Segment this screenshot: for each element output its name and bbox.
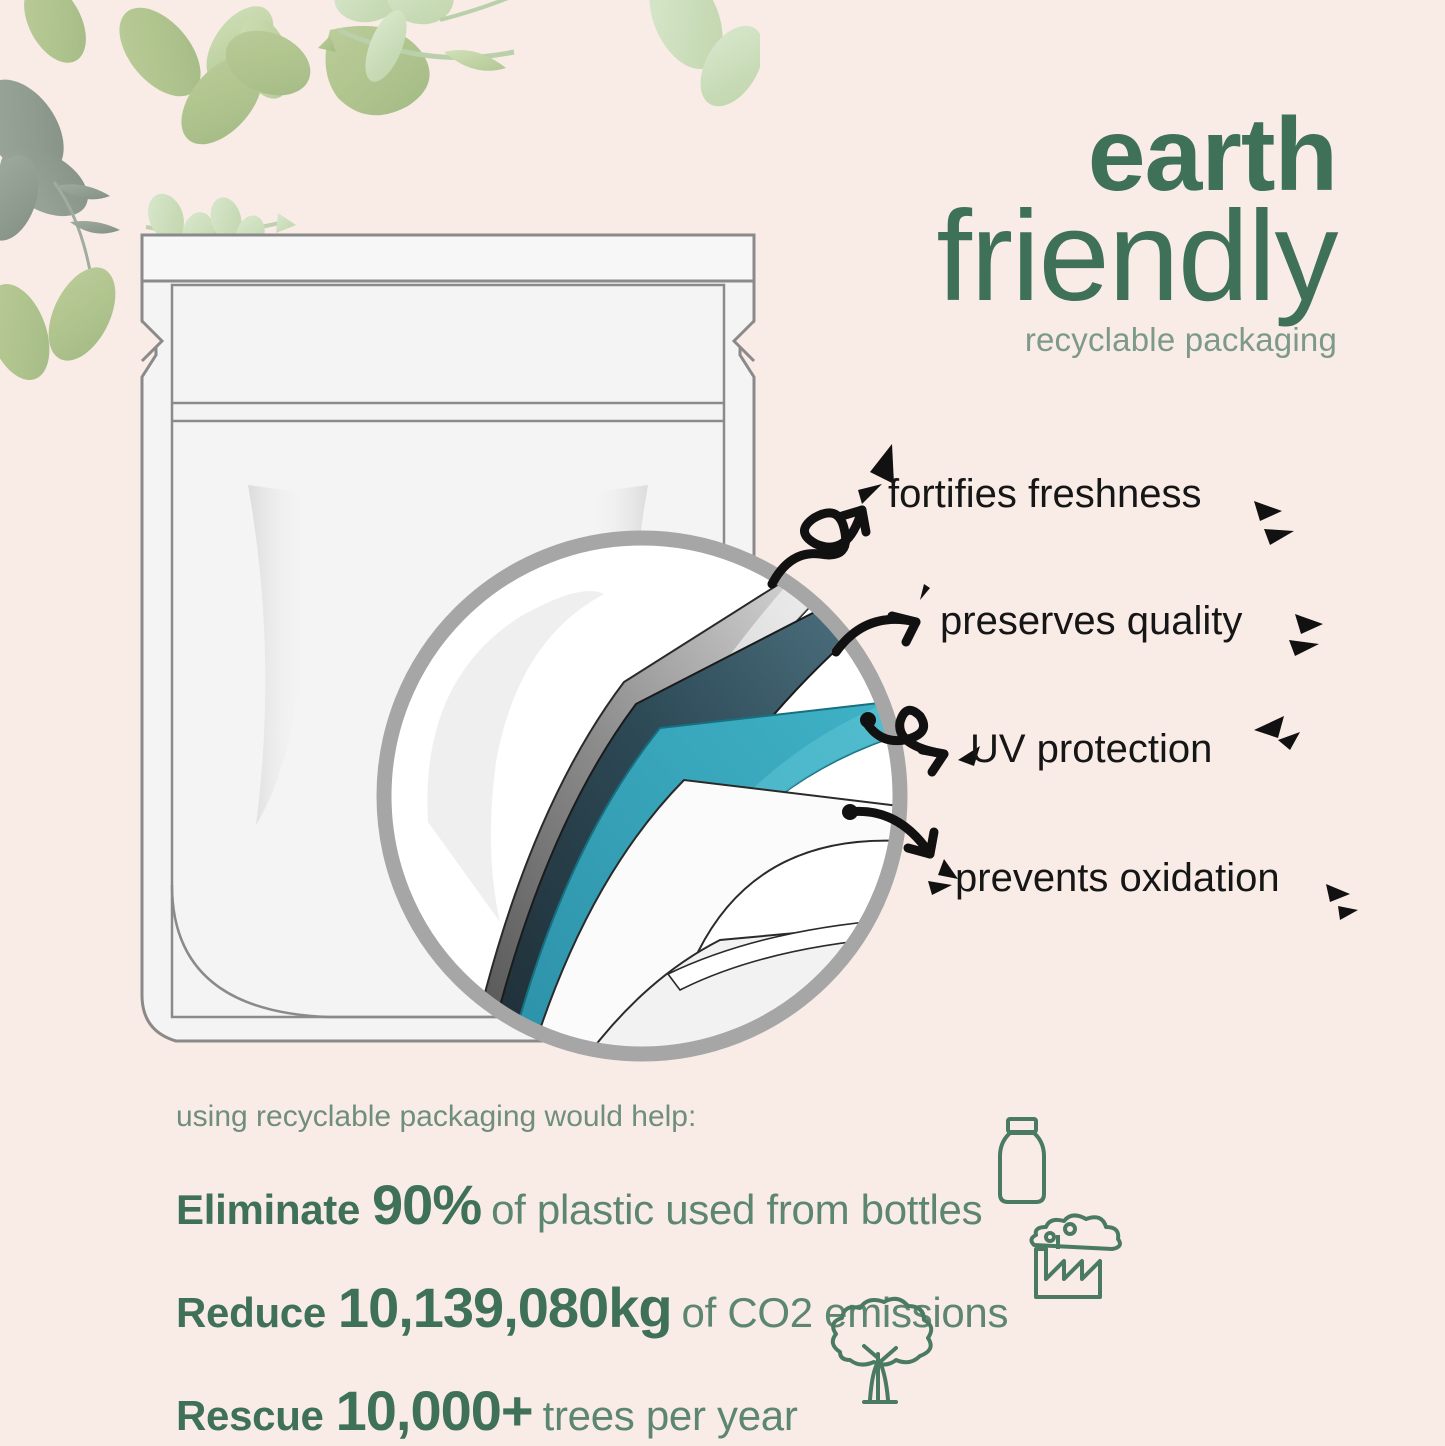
stat-number: 10,000+: [336, 1378, 533, 1443]
stat-row: Rescue 10,000+ trees per year: [176, 1378, 1336, 1443]
sparkle-icon: [1248, 714, 1304, 766]
stat-tail: of plastic used from bottles: [491, 1186, 982, 1234]
film-layers-magnifier: [368, 522, 916, 1070]
earth-friendly-infographic: earth friendly recyclable packaging: [0, 0, 1445, 1446]
sparkle-icon: [1320, 880, 1366, 924]
feature-label-prevents-oxidation: prevents oxidation: [955, 856, 1280, 901]
headline-subtitle: recyclable packaging: [936, 325, 1337, 355]
stats-section: using recyclable packaging would help: E…: [176, 1100, 1336, 1446]
stat-number: 90%: [372, 1172, 481, 1237]
stat-number: 10,139,080kg: [338, 1275, 672, 1340]
stat-tail: of CO2 emissions: [682, 1289, 1009, 1337]
stat-row: Eliminate 90% of plastic used from bottl…: [176, 1172, 1336, 1237]
page-title: earth friendly recyclable packaging: [936, 108, 1337, 356]
stat-tail: trees per year: [543, 1392, 798, 1440]
feature-label-fortifies-freshness: fortifies freshness: [888, 472, 1201, 517]
stat-verb: Rescue: [176, 1392, 324, 1440]
sparkle-icon: [1248, 495, 1308, 555]
headline-friendly: friendly: [936, 198, 1337, 316]
stat-verb: Reduce: [176, 1289, 326, 1337]
stat-row: Reduce 10,139,080kg of CO2 emissions: [176, 1275, 1336, 1340]
stats-intro: using recyclable packaging would help:: [176, 1100, 1336, 1134]
sparkle-icon: [1285, 612, 1341, 668]
stat-verb: Eliminate: [176, 1186, 360, 1234]
feature-label-preserves-quality: preserves quality: [940, 599, 1242, 644]
feature-label-uv-protection: UV protection: [970, 727, 1212, 772]
